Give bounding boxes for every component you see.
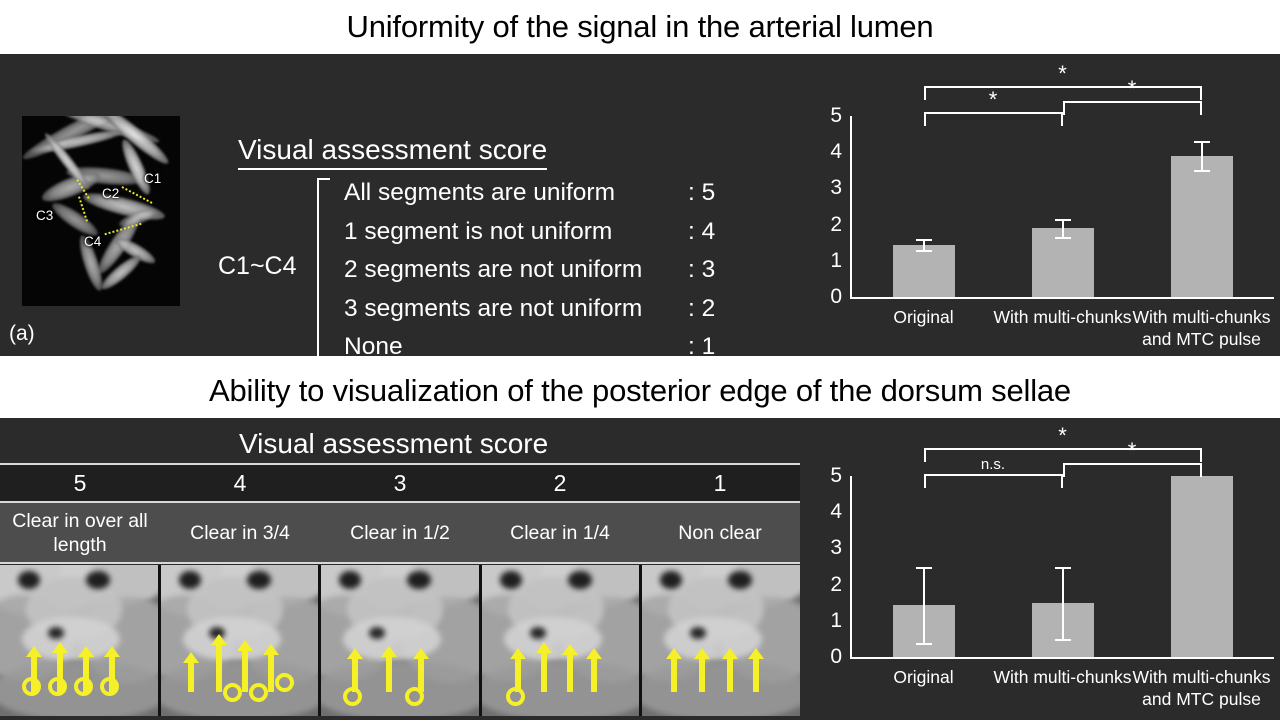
x-axis-category-label: Original [846, 666, 1001, 688]
y-axis-tick-label: 3 [820, 536, 842, 560]
y-axis-line [850, 476, 852, 659]
y-axis-tick-label: 5 [820, 104, 842, 128]
table-score-cell: 4 [160, 465, 320, 501]
error-bar-cap [916, 567, 932, 569]
arrow-shaft [727, 658, 733, 692]
arrow-shaft [591, 658, 597, 692]
mri-image-strip [0, 565, 800, 716]
panel-a-title-band: Uniformity of the signal in the arterial… [0, 0, 1280, 54]
error-bar-cap [1055, 639, 1071, 641]
mra-angiography-image: C1C2C3C4 [22, 116, 180, 306]
mri-panel [161, 565, 322, 716]
score-definition-row: 1 segment is not uniform: 4 [344, 213, 736, 252]
score-definition-text: All segments are uniform [344, 174, 615, 213]
mra-label-c1: C1 [144, 171, 161, 186]
mri-panel [482, 565, 643, 716]
table-description-cell: Clear in over all length [0, 503, 160, 562]
panel-a-tag: (a) [9, 322, 35, 346]
arrow-shaft [242, 650, 248, 692]
significance-bracket [924, 474, 1063, 488]
arrow-shaft [188, 662, 194, 692]
anatomy-region [500, 571, 522, 589]
score-definition-text: 1 segment is not uniform [344, 213, 612, 252]
y-axis-line [850, 116, 852, 299]
bar [893, 245, 955, 297]
bar [1171, 476, 1233, 657]
error-bar-cap [1055, 567, 1071, 569]
x-axis-line [850, 297, 1274, 299]
segment-group-label: C1~C4 [218, 252, 297, 281]
annotation-circle-icon [48, 677, 67, 696]
error-bar-cap [916, 250, 932, 252]
significance-label: * [1058, 66, 1067, 82]
anatomy-region [247, 571, 271, 589]
score-definition-list: All segments are uniform: 51 segment is … [344, 174, 736, 356]
table-description-row: Clear in over all lengthClear in 3/4Clea… [0, 503, 800, 562]
score-definition-row: 3 segments are not uniform: 2 [344, 290, 736, 329]
significance-label: * [1128, 443, 1137, 459]
table-score-cell: 3 [320, 465, 480, 501]
score-definition-row: 2 segments are not uniform: 3 [344, 251, 736, 290]
error-bar-cap [1194, 141, 1210, 143]
anatomy-region [482, 661, 643, 716]
score-definition-row: None: 1 [344, 328, 736, 356]
annotation-circle-icon [100, 677, 119, 696]
table-description-cell: Clear in 1/4 [480, 503, 640, 562]
arrow-shaft [753, 658, 759, 692]
table-description-cell: Clear in 3/4 [160, 503, 320, 562]
significance-bracket [924, 86, 1202, 100]
table-description-cell: Non clear [640, 503, 800, 562]
mri-panel [321, 565, 482, 716]
significance-label: n.s. [981, 457, 1005, 472]
x-axis-category-label: With multi-chunks and MTC pulse [1124, 666, 1279, 710]
panel-b-title-band: Ability to visualization of the posterio… [0, 364, 1280, 418]
y-axis-tick-label: 3 [820, 176, 842, 200]
error-bar [1062, 567, 1064, 639]
bar [1171, 156, 1233, 297]
y-axis-tick-label: 4 [820, 500, 842, 524]
table-score-cell: 1 [640, 465, 800, 501]
arrow-shaft [418, 658, 424, 692]
y-axis-tick-label: 0 [820, 645, 842, 669]
significance-bracket [924, 112, 1063, 126]
error-bar-cap [1055, 237, 1071, 239]
error-bar-cap [916, 643, 932, 645]
annotation-circle-icon [275, 673, 294, 692]
mri-panel [0, 565, 161, 716]
table-description-cell: Clear in 1/2 [320, 503, 480, 562]
annotation-circle-icon [223, 683, 242, 702]
error-bar-cap [916, 239, 932, 241]
error-bar [1201, 141, 1203, 170]
y-axis-tick-label: 2 [820, 213, 842, 237]
score-brace [317, 178, 330, 356]
table-score-cell: 2 [480, 465, 640, 501]
arrow-shaft [216, 644, 222, 692]
score-definition-row: All segments are uniform: 5 [344, 174, 736, 213]
anatomy-region [568, 571, 592, 589]
score-definition-value: : 3 [688, 251, 736, 290]
significance-label: * [1128, 81, 1137, 97]
x-axis-category-label: With multi-chunks [985, 306, 1140, 328]
y-axis-tick-label: 1 [820, 249, 842, 273]
significance-bracket [1063, 463, 1202, 477]
score-definition-value: : 4 [688, 213, 736, 252]
score-definition-value: : 2 [688, 290, 736, 329]
chart-b: 543210OriginalWith multi-chunksWith mult… [806, 418, 1280, 720]
anatomy-region [179, 571, 201, 589]
score-definition-value: : 1 [688, 328, 736, 356]
figure-root: MTC:magnetization transfer contrastn.s.:… [0, 0, 1280, 720]
panel-b-title: Ability to visualization of the posterio… [209, 373, 1071, 409]
arrow-shaft [268, 654, 274, 692]
anatomy-region [48, 627, 64, 639]
mri-panel [642, 565, 800, 716]
score-definition-value: : 5 [688, 174, 736, 213]
y-axis-tick-label: 5 [820, 464, 842, 488]
table-rule-bottom [0, 562, 800, 564]
score-definition-text: 3 segments are not uniform [344, 290, 642, 329]
anatomy-region [530, 627, 546, 639]
x-axis-category-label: Original [846, 306, 1001, 328]
significance-label: * [989, 92, 998, 108]
table-score-row: 54321 [0, 465, 800, 501]
arrow-shaft [541, 652, 547, 692]
annotation-circle-icon [506, 687, 525, 706]
error-bar-cap [1194, 170, 1210, 172]
panel-a: (a) C1C2C3C4 Visual assessment score C1~… [0, 54, 1280, 356]
panel-b-assessment-heading: Visual assessment score [239, 428, 548, 462]
mra-label-c2: C2 [102, 186, 119, 201]
y-axis-tick-label: 0 [820, 285, 842, 309]
error-bar [923, 567, 925, 643]
mra-label-c4: C4 [84, 234, 101, 249]
score-definition-text: None [344, 328, 403, 356]
y-axis-tick-label: 1 [820, 609, 842, 633]
significance-label: * [1058, 428, 1067, 444]
panel-a-assessment-heading: Visual assessment score [238, 134, 547, 170]
chart-a: 543210OriginalWith multi-chunksWith mult… [806, 54, 1280, 356]
x-axis-category-label: With multi-chunks [985, 666, 1140, 688]
error-bar [1062, 219, 1064, 237]
y-axis-tick-label: 2 [820, 573, 842, 597]
table-score-cell: 5 [0, 465, 160, 501]
y-axis-tick-label: 4 [820, 140, 842, 164]
x-axis-category-label: With multi-chunks and MTC pulse [1124, 306, 1279, 350]
error-bar-cap [1055, 219, 1071, 221]
arrow-shaft [699, 658, 705, 692]
x-axis-line [850, 657, 1274, 659]
arrow-shaft [671, 658, 677, 692]
significance-bracket [1063, 101, 1202, 115]
arrow-shaft [386, 656, 392, 692]
annotation-circle-icon [249, 683, 268, 702]
anatomy-region [18, 571, 40, 589]
annotation-circle-icon [22, 677, 41, 696]
mra-image-container: C1C2C3C4 [22, 116, 180, 306]
panel-a-title: Uniformity of the signal in the arterial… [347, 9, 934, 45]
anatomy-region [86, 571, 110, 589]
anatomy-region [642, 661, 800, 716]
score-definition-text: 2 segments are not uniform [344, 251, 642, 290]
mra-label-c3: C3 [36, 208, 53, 223]
panel-b: (b) Visual assessment score 54321 Clear … [0, 418, 1280, 720]
arrow-shaft [567, 654, 573, 692]
significance-bracket [924, 448, 1202, 462]
annotation-circle-icon [74, 677, 93, 696]
